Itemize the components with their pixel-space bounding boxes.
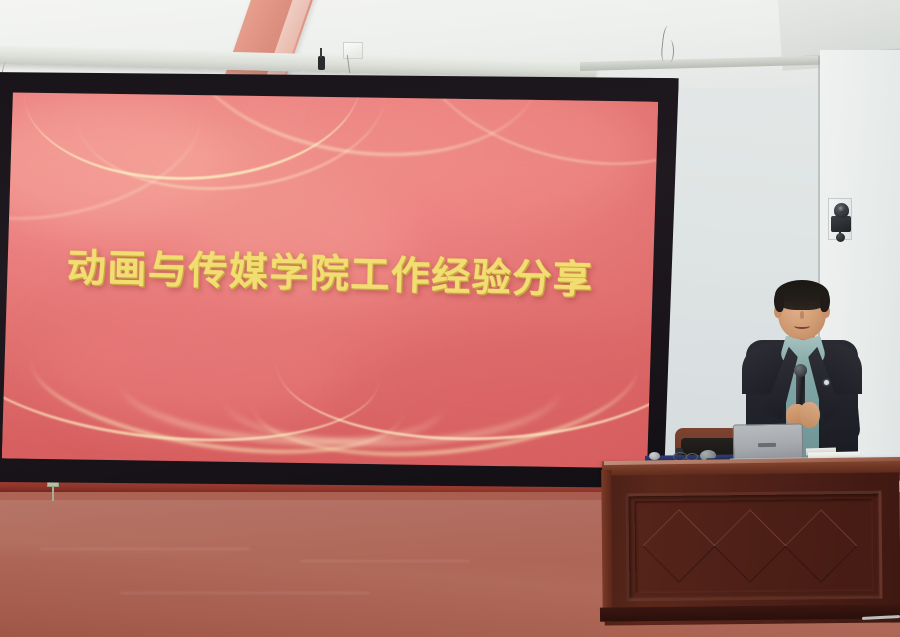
- camera-dome: [836, 233, 845, 242]
- wall-camera-body: [831, 216, 851, 232]
- floor-streak: [40, 548, 250, 550]
- presenter-mouth: [794, 323, 810, 329]
- presenter-eye-right: [808, 306, 816, 309]
- presenter-hair-side-left: [774, 290, 784, 312]
- laptop-logo: [758, 443, 776, 447]
- presenter-nose: [800, 311, 804, 319]
- microphone-icon: [794, 364, 807, 377]
- ceiling-cable: [320, 48, 322, 58]
- lecture-hall-photo: 动画与传媒学院工作经验分享: [0, 0, 900, 637]
- floor-streak: [300, 560, 470, 562]
- presenter-hair-side-right: [820, 290, 830, 312]
- lapel-badge: [824, 380, 829, 385]
- screen-frame: 动画与传媒学院工作经验分享: [0, 62, 679, 498]
- camera-lens-icon: [838, 206, 845, 213]
- presenter-eyebrow-right: [807, 302, 816, 304]
- floor-streak: [120, 592, 370, 594]
- presenter-eye-left: [788, 306, 796, 309]
- wall-outlet-conduit: [52, 487, 54, 501]
- podium-left-edge: [601, 470, 613, 622]
- projected-slide: 动画与传媒学院工作经验分享: [2, 86, 659, 473]
- projection-screen: 动画与传媒学院工作经验分享: [0, 62, 679, 498]
- ceiling-electrical-box: [343, 42, 363, 59]
- desk-object-small: [649, 452, 660, 460]
- presenter-eyebrow-left: [787, 302, 796, 304]
- presenter-hand-right: [800, 402, 820, 428]
- ceiling-cable-clamp: [318, 56, 325, 70]
- ceiling-wire-2: [666, 40, 674, 62]
